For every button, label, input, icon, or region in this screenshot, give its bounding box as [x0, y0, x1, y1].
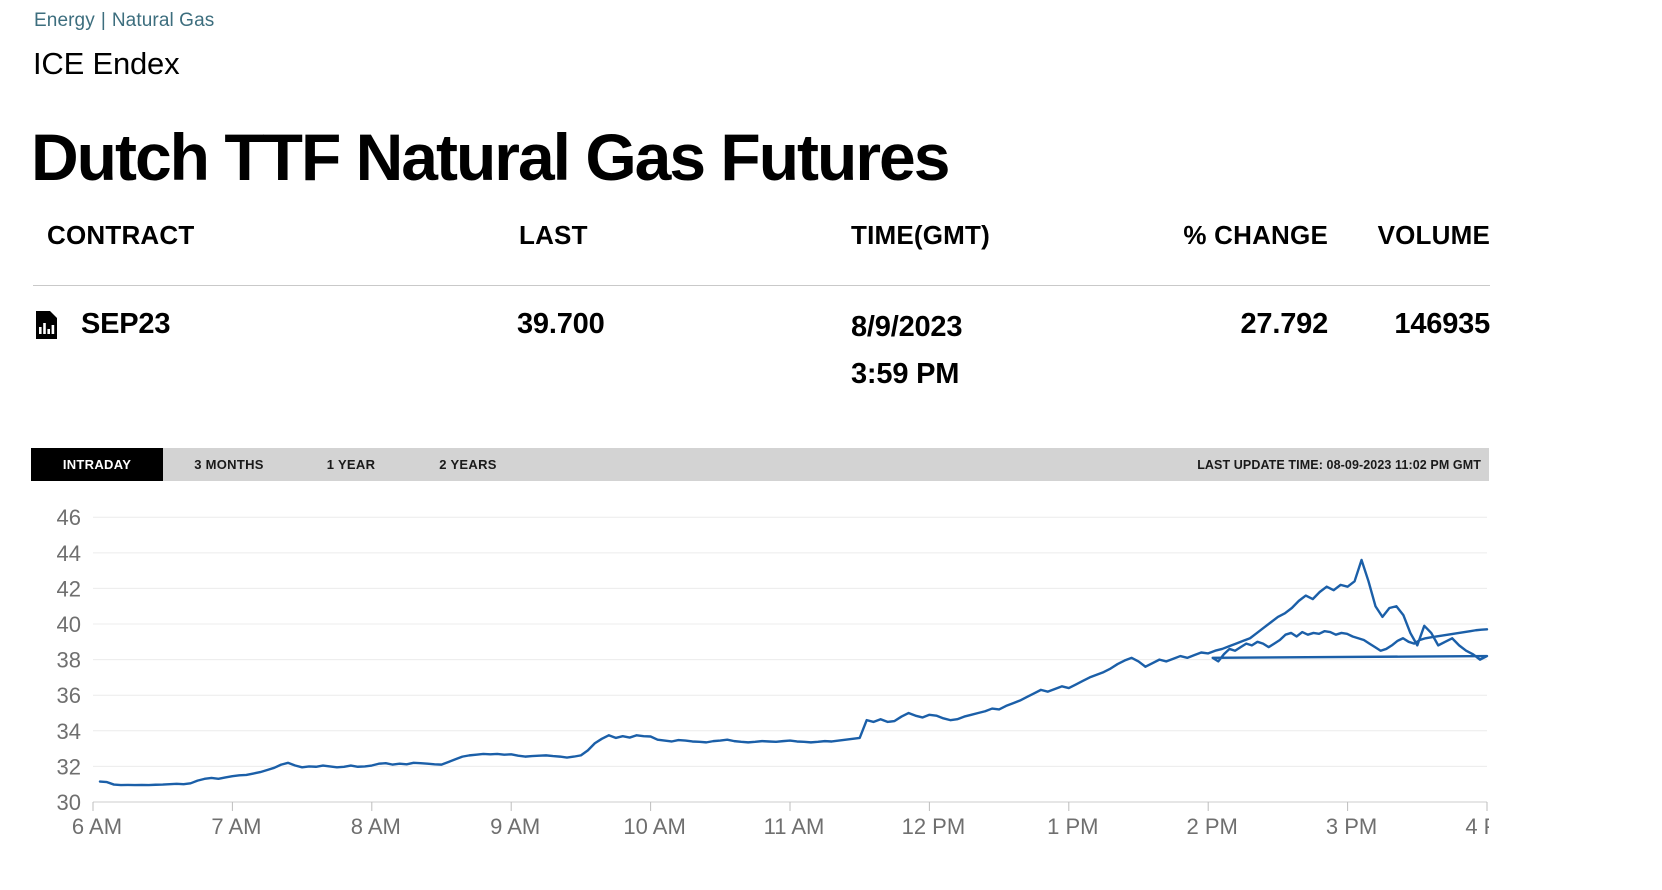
svg-text:7 AM: 7 AM — [211, 814, 261, 839]
svg-text:44: 44 — [57, 541, 81, 566]
tab-1-year[interactable]: 1 YEAR — [295, 448, 407, 481]
futures-quote-page: Energy|Natural Gas ICE Endex Dutch TTF N… — [0, 0, 1662, 890]
svg-text:6 AM: 6 AM — [72, 814, 122, 839]
price-chart[interactable]: 303234363840424446 6 AM7 AM8 AM9 AM10 AM… — [31, 481, 1489, 890]
chart-x-axis-labels: 6 AM7 AM8 AM9 AM10 AM11 AM12 PM1 PM2 PM3… — [72, 802, 1489, 839]
svg-text:11 AM: 11 AM — [764, 814, 825, 839]
column-header-contract: CONTRACT — [47, 220, 194, 251]
breadcrumb: Energy|Natural Gas — [34, 10, 214, 32]
last-update-time: LAST UPDATE TIME: 08-09-2023 11:02 PM GM… — [1197, 448, 1489, 481]
page-title: Dutch TTF Natural Gas Futures — [31, 124, 948, 190]
svg-text:2 PM: 2 PM — [1187, 814, 1238, 839]
chart-series-line — [100, 560, 1487, 785]
chart-y-axis-labels: 303234363840424446 — [57, 505, 81, 815]
svg-text:12 PM: 12 PM — [902, 814, 966, 839]
svg-text:38: 38 — [57, 648, 81, 673]
tab-2-years[interactable]: 2 YEARS — [407, 448, 529, 481]
column-header-percent-change: % CHANGE — [1183, 220, 1328, 251]
svg-text:36: 36 — [57, 683, 81, 708]
chart-range-tabs: INTRADAY 3 MONTHS 1 YEAR 2 YEARS LAST UP… — [31, 448, 1489, 481]
cell-percent-change: 27.792 — [1241, 308, 1329, 341]
column-header-last: LAST — [519, 220, 588, 251]
table-header-row: CONTRACT LAST TIME(GMT) % CHANGE VOLUME — [33, 208, 1490, 286]
cell-volume: 146935 — [1394, 308, 1490, 341]
table-row[interactable]: SEP23 39.700 8/9/2023 3:59 PM 27.792 146… — [33, 286, 1490, 406]
svg-text:4 PM: 4 PM — [1465, 814, 1489, 839]
svg-text:32: 32 — [57, 754, 81, 779]
svg-text:34: 34 — [57, 719, 81, 744]
cell-contract[interactable]: SEP23 — [81, 308, 170, 341]
tab-intraday[interactable]: INTRADAY — [31, 448, 163, 481]
tab-3-months[interactable]: 3 MONTHS — [163, 448, 295, 481]
exchange-name: ICE Endex — [33, 46, 179, 82]
svg-text:8 AM: 8 AM — [351, 814, 401, 839]
column-header-time: TIME(GMT) — [851, 220, 990, 251]
price-chart-svg[interactable]: 303234363840424446 6 AM7 AM8 AM9 AM10 AM… — [31, 481, 1489, 890]
document-chart-icon[interactable] — [35, 310, 59, 340]
breadcrumb-link-energy[interactable]: Energy — [34, 10, 95, 31]
cell-time-clock: 3:59 PM — [851, 351, 962, 398]
breadcrumb-separator: | — [95, 10, 112, 31]
svg-text:46: 46 — [57, 505, 81, 530]
svg-text:42: 42 — [57, 576, 81, 601]
quote-table: CONTRACT LAST TIME(GMT) % CHANGE VOLUME … — [33, 208, 1490, 406]
breadcrumb-link-natural-gas[interactable]: Natural Gas — [112, 10, 214, 31]
svg-text:30: 30 — [57, 790, 81, 815]
svg-text:40: 40 — [57, 612, 81, 637]
column-header-volume: VOLUME — [1378, 220, 1490, 251]
cell-time: 8/9/2023 3:59 PM — [851, 304, 962, 398]
svg-text:9 AM: 9 AM — [490, 814, 540, 839]
svg-text:3 PM: 3 PM — [1326, 814, 1377, 839]
chart-gridlines — [93, 517, 1487, 802]
svg-text:10 AM: 10 AM — [623, 814, 685, 839]
cell-time-date: 8/9/2023 — [851, 304, 962, 351]
cell-last: 39.700 — [517, 308, 605, 341]
svg-text:1 PM: 1 PM — [1047, 814, 1098, 839]
